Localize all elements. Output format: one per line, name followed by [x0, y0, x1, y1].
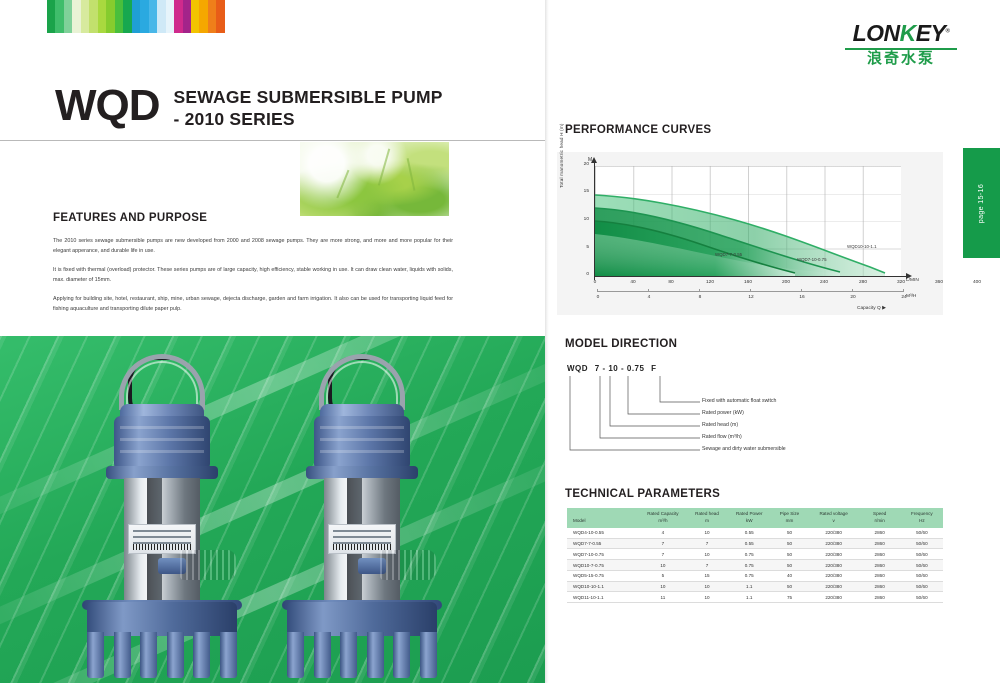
col-rated-voltage: Rated voltagev [809, 508, 859, 528]
cell-r2-c0: WQD7-10-0.75 [567, 549, 640, 560]
cell-r4-c5: 220/380 [809, 570, 859, 581]
model-callout-float-switch: Fixed with automatic float switch [702, 398, 776, 404]
product-title-line2: - 2010 SERIES [174, 109, 443, 131]
model-callout-rated-flow: Rated flow (m³/h) [702, 434, 742, 440]
cell-r6-c2: 10 [686, 592, 728, 603]
pump-discharge-outlet [380, 550, 436, 580]
x2-tick-0: 0 [587, 295, 609, 300]
x-tick-360: 360 [928, 280, 950, 285]
x2-tick-16: 16 [791, 295, 813, 300]
chart-secondary-x-axis [597, 291, 903, 292]
cell-r6-c0: WQD11-10-1.1 [567, 592, 640, 603]
color-strip-bar-0 [47, 0, 55, 33]
cell-r4-c3: 0.75 [728, 570, 770, 581]
cell-r0-c0: WQD4-10-0.55 [567, 528, 640, 538]
cell-r1-c1: 7 [640, 538, 686, 549]
cell-r6-c1: 11 [640, 592, 686, 603]
cell-r5-c1: 10 [640, 581, 686, 592]
col-rated-capacity: Rated Capacitym³/h [640, 508, 686, 528]
cell-r2-c6: 2860 [859, 549, 901, 560]
x-tick-240: 240 [813, 280, 835, 285]
color-strip-bar-11 [140, 0, 148, 33]
x-tick-0: 0 [584, 280, 606, 285]
features-paragraph-2: It is fixed with thermal (overload) prot… [53, 265, 453, 285]
chart-curves-svg [595, 166, 901, 276]
pump-legs [287, 632, 437, 678]
carry-handle [119, 354, 205, 410]
company-logo: LONKEY® 浪奇水泵 [837, 22, 965, 68]
performance-chart: Total manometric head H (m) M [557, 152, 943, 315]
title-divider [0, 140, 545, 141]
color-strip-bar-15 [174, 0, 182, 33]
features-paragraph-3: Applying for building site, hotel, resta… [53, 294, 453, 314]
cell-r3-c1: 10 [640, 560, 686, 571]
model-direction-heading: MODEL DIRECTION [565, 338, 677, 350]
table-body: WQD4-10-0.554100.5550220/380286050/60WQD… [567, 528, 943, 603]
cell-r0-c6: 2860 [859, 528, 901, 538]
table-row: WQD7-10-0.757100.7550220/380286050/60 [567, 549, 943, 560]
cell-r1-c4: 50 [770, 538, 808, 549]
table-row: WQD10-7-0.751070.7550220/380286050/60 [567, 560, 943, 571]
table-row: WQD10-10-1.110101.150220/380286050/60 [567, 581, 943, 592]
cell-r5-c5: 220/380 [809, 581, 859, 592]
color-strip-bar-19 [208, 0, 216, 33]
chart-x-secondary-unit: M³/H [906, 294, 916, 299]
table-header-row: Model Rated Capacitym³/h Rated headm Rat… [567, 508, 943, 528]
color-strip-bar-18 [199, 0, 207, 33]
pump-discharge-outlet [180, 550, 236, 580]
cell-r2-c2: 10 [686, 549, 728, 560]
pump-base [287, 602, 437, 636]
features-body: The 2010 series sewage submersible pumps… [53, 236, 453, 323]
cell-r6-c6: 2860 [859, 592, 901, 603]
y-tick-20: 20 [573, 162, 589, 167]
chart-capacity-label: Capacity Q ▶ [857, 306, 886, 311]
model-callout-rated-head: Rated head (m) [702, 422, 738, 428]
cell-r4-c7: 50/60 [901, 570, 943, 581]
cell-r4-c6: 2860 [859, 570, 901, 581]
col-speed: Speedr/min [859, 508, 901, 528]
cell-r2-c7: 50/60 [901, 549, 943, 560]
curve-label-wqd10-10: WQD10-10-1.1 [847, 244, 877, 249]
x-tick-80: 80 [660, 280, 682, 285]
col-pipe-size: Pipe Sizemm [770, 508, 808, 528]
page-number-label: page 15-16 [978, 183, 985, 222]
cell-r4-c2: 15 [686, 570, 728, 581]
cell-r5-c3: 1.1 [728, 581, 770, 592]
table-row: WQD5-15-0.755150.7540220/380286050/60 [567, 570, 943, 581]
model-direction-diagram: Fixed with automatic float switch Rated … [560, 372, 890, 454]
leaves-photo [300, 142, 449, 216]
color-strip-bar-8 [115, 0, 123, 33]
chart-plot-area [595, 166, 901, 276]
color-strip-bar-14 [166, 0, 174, 33]
y-tick-0: 0 [573, 272, 589, 277]
cell-r3-c6: 2860 [859, 560, 901, 571]
cell-r1-c6: 2860 [859, 538, 901, 549]
cell-r2-c4: 50 [770, 549, 808, 560]
cell-r5-c4: 50 [770, 581, 808, 592]
x-tick-40: 40 [622, 280, 644, 285]
y-tick-10: 10 [573, 217, 589, 222]
pump-motor-housing [114, 416, 210, 468]
col-rated-head: Rated headm [686, 508, 728, 528]
x-tick-200: 200 [775, 280, 797, 285]
cell-r5-c6: 2860 [859, 581, 901, 592]
features-paragraph-1: The 2010 series sewage submersible pumps… [53, 236, 453, 256]
x-tick-120: 120 [699, 280, 721, 285]
color-strip-bar-9 [123, 0, 131, 33]
x2-tick-20: 20 [842, 295, 864, 300]
color-strip-bar-4 [81, 0, 89, 33]
cell-r2-c5: 220/380 [809, 549, 859, 560]
technical-parameters-heading: TECHNICAL PARAMETERS [565, 488, 720, 500]
color-strip-bar-12 [149, 0, 157, 33]
chart-y-axis-label: Total manometric head H (m) [559, 102, 564, 188]
cell-r1-c5: 220/380 [809, 538, 859, 549]
table-row: WQD4-10-0.554100.5550220/380286050/60 [567, 528, 943, 538]
color-strip-bar-6 [98, 0, 106, 33]
chart-y-axis [594, 162, 595, 280]
color-strip-bar-17 [191, 0, 199, 33]
color-strip-bar-13 [157, 0, 165, 33]
cell-r0-c3: 0.55 [728, 528, 770, 538]
pump-product-photo-1 [62, 354, 262, 654]
cell-r3-c3: 0.75 [728, 560, 770, 571]
pump-base [87, 602, 237, 636]
cell-r0-c7: 50/60 [901, 528, 943, 538]
color-strip-bar-20 [216, 0, 224, 33]
cell-r3-c0: WQD10-7-0.75 [567, 560, 640, 571]
pump-product-photo-2 [262, 354, 462, 654]
cell-r0-c2: 10 [686, 528, 728, 538]
registered-trademark-icon: ® [945, 28, 949, 34]
x-tick-160: 160 [737, 280, 759, 285]
product-model-prefix: WQD [55, 84, 160, 128]
chart-x-primary-unit: L/MIN [906, 278, 919, 283]
pump-motor-housing [314, 416, 410, 468]
cell-r1-c3: 0.55 [728, 538, 770, 549]
chart-x-axis [594, 276, 906, 277]
curve-label-wqd7-7: WQD7-7-0.55 [715, 252, 742, 257]
logo-wordmark: LONKEY® [853, 22, 950, 45]
cell-r0-c5: 220/380 [809, 528, 859, 538]
color-strip-bar-16 [183, 0, 191, 33]
cell-r4-c1: 5 [640, 570, 686, 581]
x-tick-400: 400 [966, 280, 988, 285]
cell-r5-c0: WQD10-10-1.1 [567, 581, 640, 592]
cell-r5-c7: 50/60 [901, 581, 943, 592]
cell-r6-c3: 1.1 [728, 592, 770, 603]
logo-chinese-name: 浪奇水泵 [837, 51, 965, 68]
cell-r3-c5: 220/380 [809, 560, 859, 571]
cell-r1-c2: 7 [686, 538, 728, 549]
cell-r3-c2: 7 [686, 560, 728, 571]
col-model: Model [567, 508, 640, 528]
pump-legs [87, 632, 237, 678]
cell-r1-c7: 50/60 [901, 538, 943, 549]
table-row: WQD7-7-0.55770.5550220/380286050/60 [567, 538, 943, 549]
performance-curves-heading: PERFORMANCE CURVES [565, 124, 711, 136]
product-hero-banner [0, 336, 545, 683]
x-tick-280: 280 [852, 280, 874, 285]
color-strip-bar-10 [132, 0, 140, 33]
cell-r2-c1: 7 [640, 549, 686, 560]
cell-r6-c5: 220/380 [809, 592, 859, 603]
model-callout-rated-power: Rated power (kW) [702, 410, 744, 416]
color-strip-bar-1 [55, 0, 63, 33]
color-strip-bar-2 [64, 0, 72, 33]
x2-tick-8: 8 [689, 295, 711, 300]
cell-r3-c7: 50/60 [901, 560, 943, 571]
table-row: WQD11-10-1.111101.175220/380286050/60 [567, 592, 943, 603]
product-title-block: WQD SEWAGE SUBMERSIBLE PUMP - 2010 SERIE… [55, 84, 443, 131]
model-callout-sewage-type: Sewage and dirty water submersible [702, 446, 786, 452]
catalog-page-spread: WQD SEWAGE SUBMERSIBLE PUMP - 2010 SERIE… [0, 0, 1000, 683]
x2-tick-4: 4 [638, 295, 660, 300]
cell-r0-c4: 50 [770, 528, 808, 538]
y-tick-15: 15 [573, 189, 589, 194]
cell-r6-c7: 50/60 [901, 592, 943, 603]
decorative-color-strip [47, 0, 225, 33]
color-strip-bar-7 [106, 0, 114, 33]
col-rated-power: Rated PowerkW [728, 508, 770, 528]
left-page: WQD SEWAGE SUBMERSIBLE PUMP - 2010 SERIE… [0, 0, 545, 683]
color-strip-bar-5 [89, 0, 97, 33]
x2-tick-12: 12 [740, 295, 762, 300]
page-number-tab: page 15-16 [963, 148, 1000, 258]
cell-r1-c0: WQD7-7-0.55 [567, 538, 640, 549]
cell-r5-c2: 10 [686, 581, 728, 592]
cell-r4-c4: 40 [770, 570, 808, 581]
product-title-line1: SEWAGE SUBMERSIBLE PUMP [174, 87, 443, 109]
col-frequency: FrequencyHz [901, 508, 943, 528]
color-strip-bar-3 [72, 0, 80, 33]
y-tick-5: 5 [573, 245, 589, 250]
cell-r0-c1: 4 [640, 528, 686, 538]
cell-r3-c4: 50 [770, 560, 808, 571]
cell-r4-c0: WQD5-15-0.75 [567, 570, 640, 581]
curve-label-wqd7-10: WQD7-10-0.75 [797, 257, 827, 262]
features-heading: FEATURES AND PURPOSE [53, 212, 207, 224]
carry-handle [319, 354, 405, 410]
technical-parameters-table: Model Rated Capacitym³/h Rated headm Rat… [567, 508, 943, 603]
cell-r6-c4: 75 [770, 592, 808, 603]
cell-r2-c3: 0.75 [728, 549, 770, 560]
